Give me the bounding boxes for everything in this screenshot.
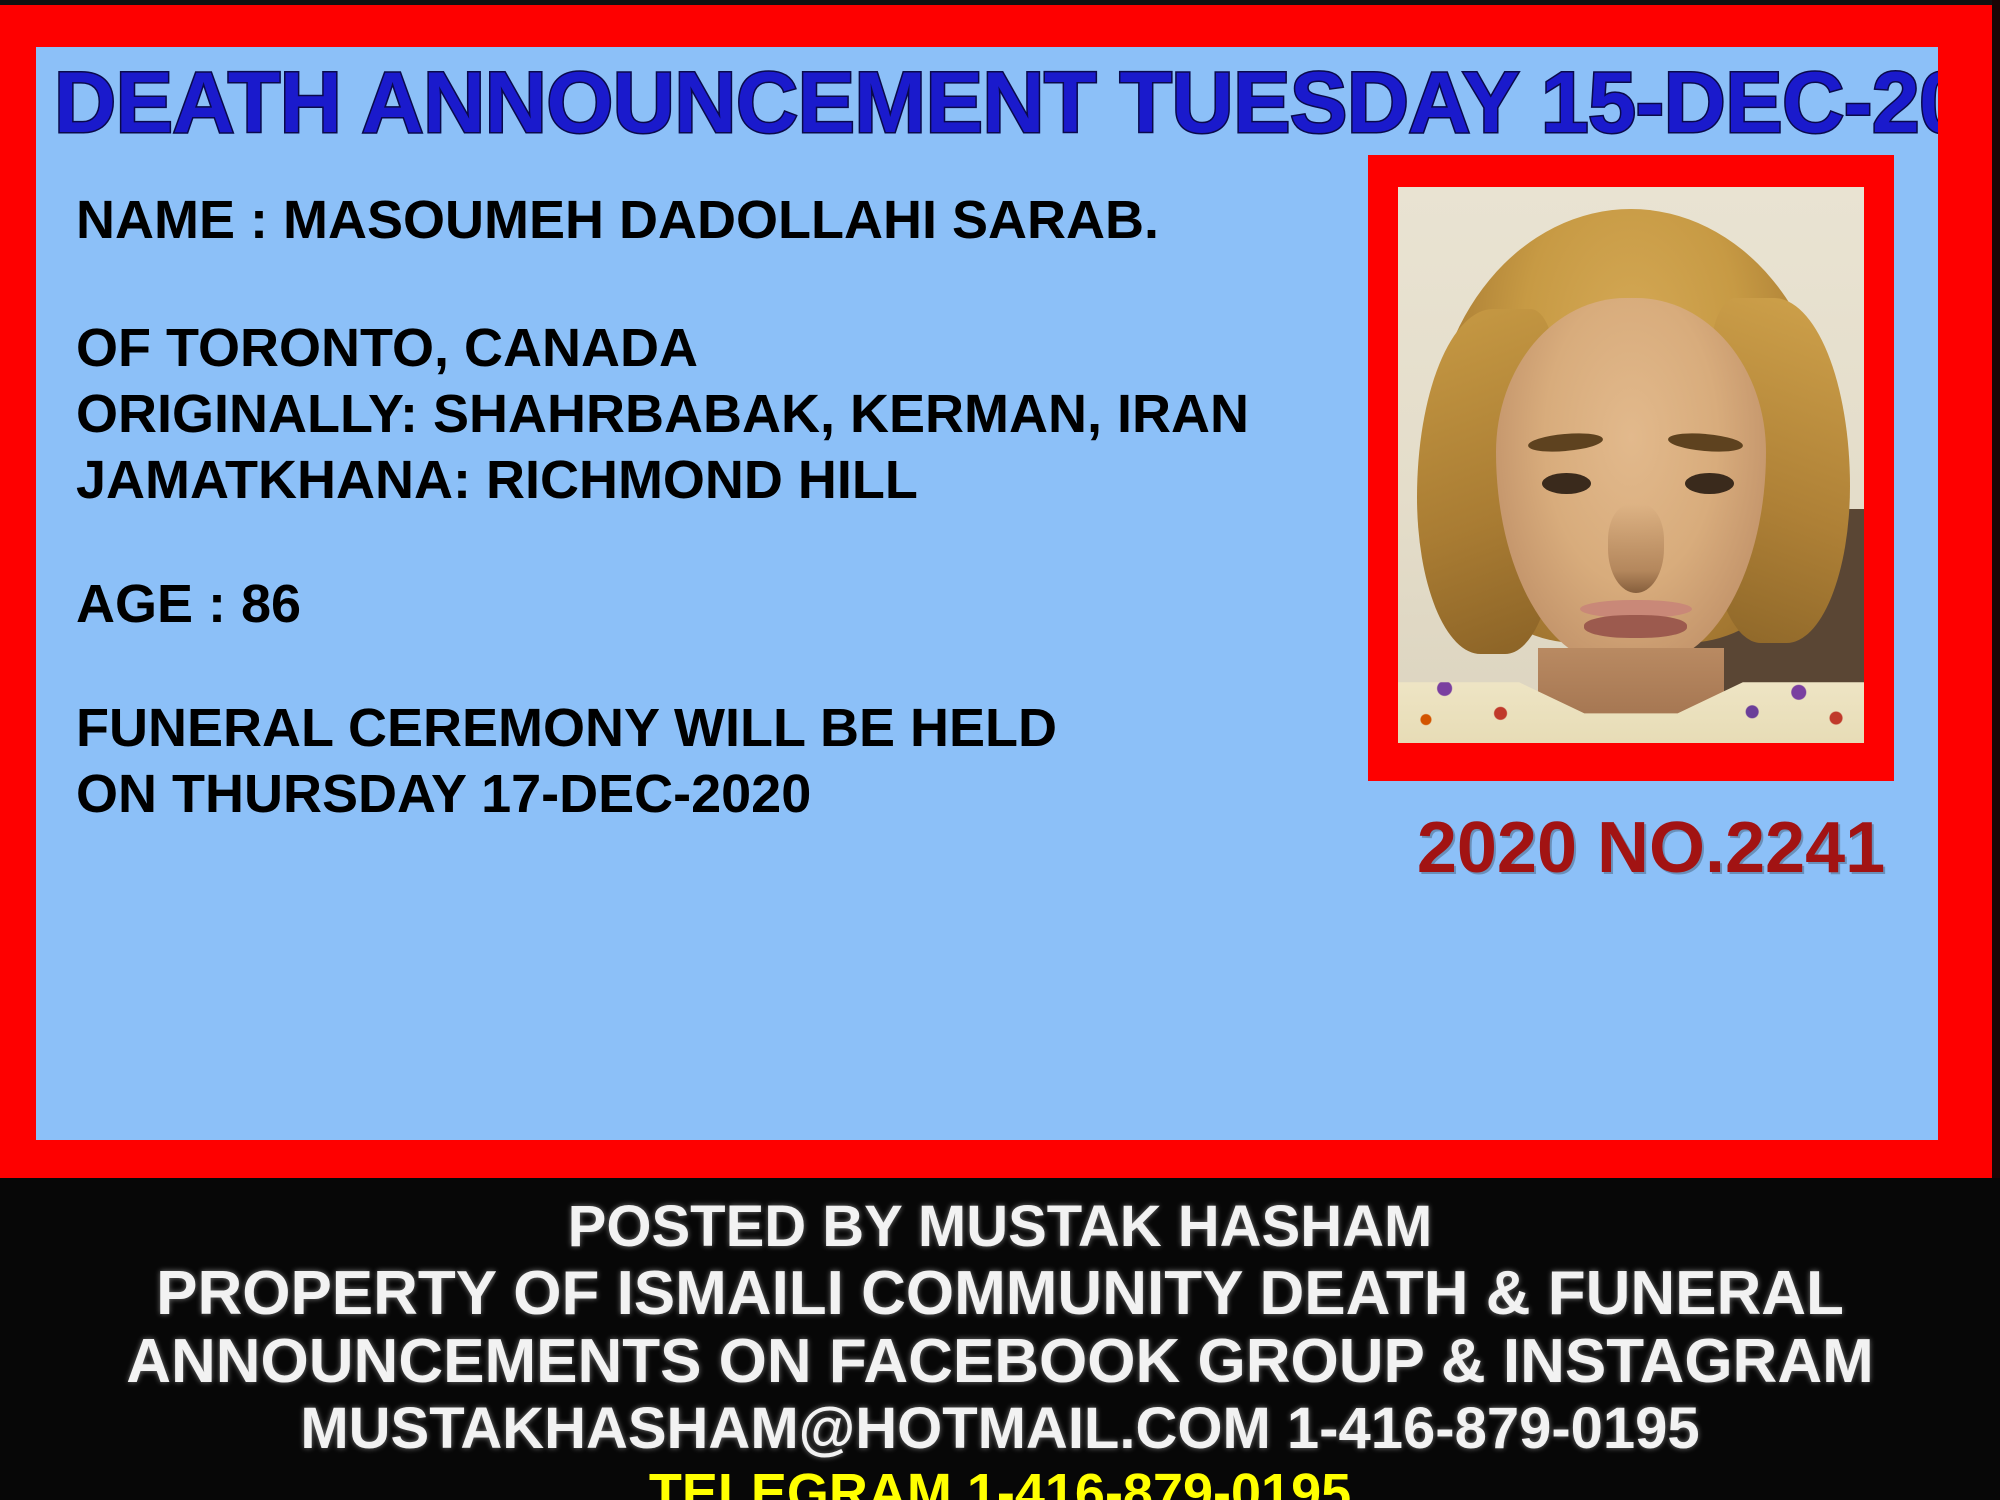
announcement-details: NAME : MASOUMEH DADOLLAHI SARAB. OF TORO… xyxy=(76,187,1086,827)
page-title: DEATH ANNOUNCEMENT TUESDAY 15-DEC-2020 xyxy=(54,61,1920,145)
reference-number: 2020 NO.2241 xyxy=(1368,809,1934,887)
photo-mouth xyxy=(1584,615,1687,638)
detail-funeral-line-2: ON THURSDAY 17-DEC-2020 xyxy=(76,761,1086,827)
spacer-3 xyxy=(76,637,1086,695)
portrait-photo-frame xyxy=(1368,155,1894,781)
photo-nose xyxy=(1608,504,1664,593)
footer-contact-line: MUSTAKHASHAM@HOTMAIL.COM 1-416-879-0195 xyxy=(0,1396,2000,1462)
portrait-photo xyxy=(1398,187,1864,743)
detail-of-line: OF TORONTO, CANADA xyxy=(76,315,1086,381)
footer-credits: POSTED BY MUSTAK HASHAM PROPERTY OF ISMA… xyxy=(0,1178,2000,1500)
detail-name-line: NAME : MASOUMEH DADOLLAHI SARAB. xyxy=(76,187,1086,253)
footer-telegram-line: TELEGRAM 1-416-879-0195 xyxy=(0,1462,2000,1500)
detail-originally-line: ORIGINALLY: SHAHRBABAK, KERMAN, IRAN xyxy=(76,381,1086,447)
blue-content-panel: DEATH ANNOUNCEMENT TUESDAY 15-DEC-2020 N… xyxy=(36,47,1938,1140)
detail-funeral-line-1: FUNERAL CEREMONY WILL BE HELD xyxy=(76,695,1086,761)
death-announcement-poster: DEATH ANNOUNCEMENT TUESDAY 15-DEC-2020 N… xyxy=(0,0,2000,1500)
footer-announcements-line: ANNOUNCEMENTS ON FACEBOOK GROUP & INSTAG… xyxy=(0,1328,2000,1396)
right-dark-strip xyxy=(1992,0,2000,1178)
footer-property-line: PROPERTY OF ISMAILI COMMUNITY DEATH & FU… xyxy=(0,1260,2000,1328)
detail-age-line: AGE : 86 xyxy=(76,571,1086,637)
spacer-1 xyxy=(76,253,1086,315)
red-outer-frame: DEATH ANNOUNCEMENT TUESDAY 15-DEC-2020 N… xyxy=(0,5,2000,1178)
footer-posted-by: POSTED BY MUSTAK HASHAM xyxy=(0,1178,2000,1260)
detail-jamatkhana-line: JAMATKHANA: RICHMOND HILL xyxy=(76,447,1086,513)
spacer-2 xyxy=(76,513,1086,571)
